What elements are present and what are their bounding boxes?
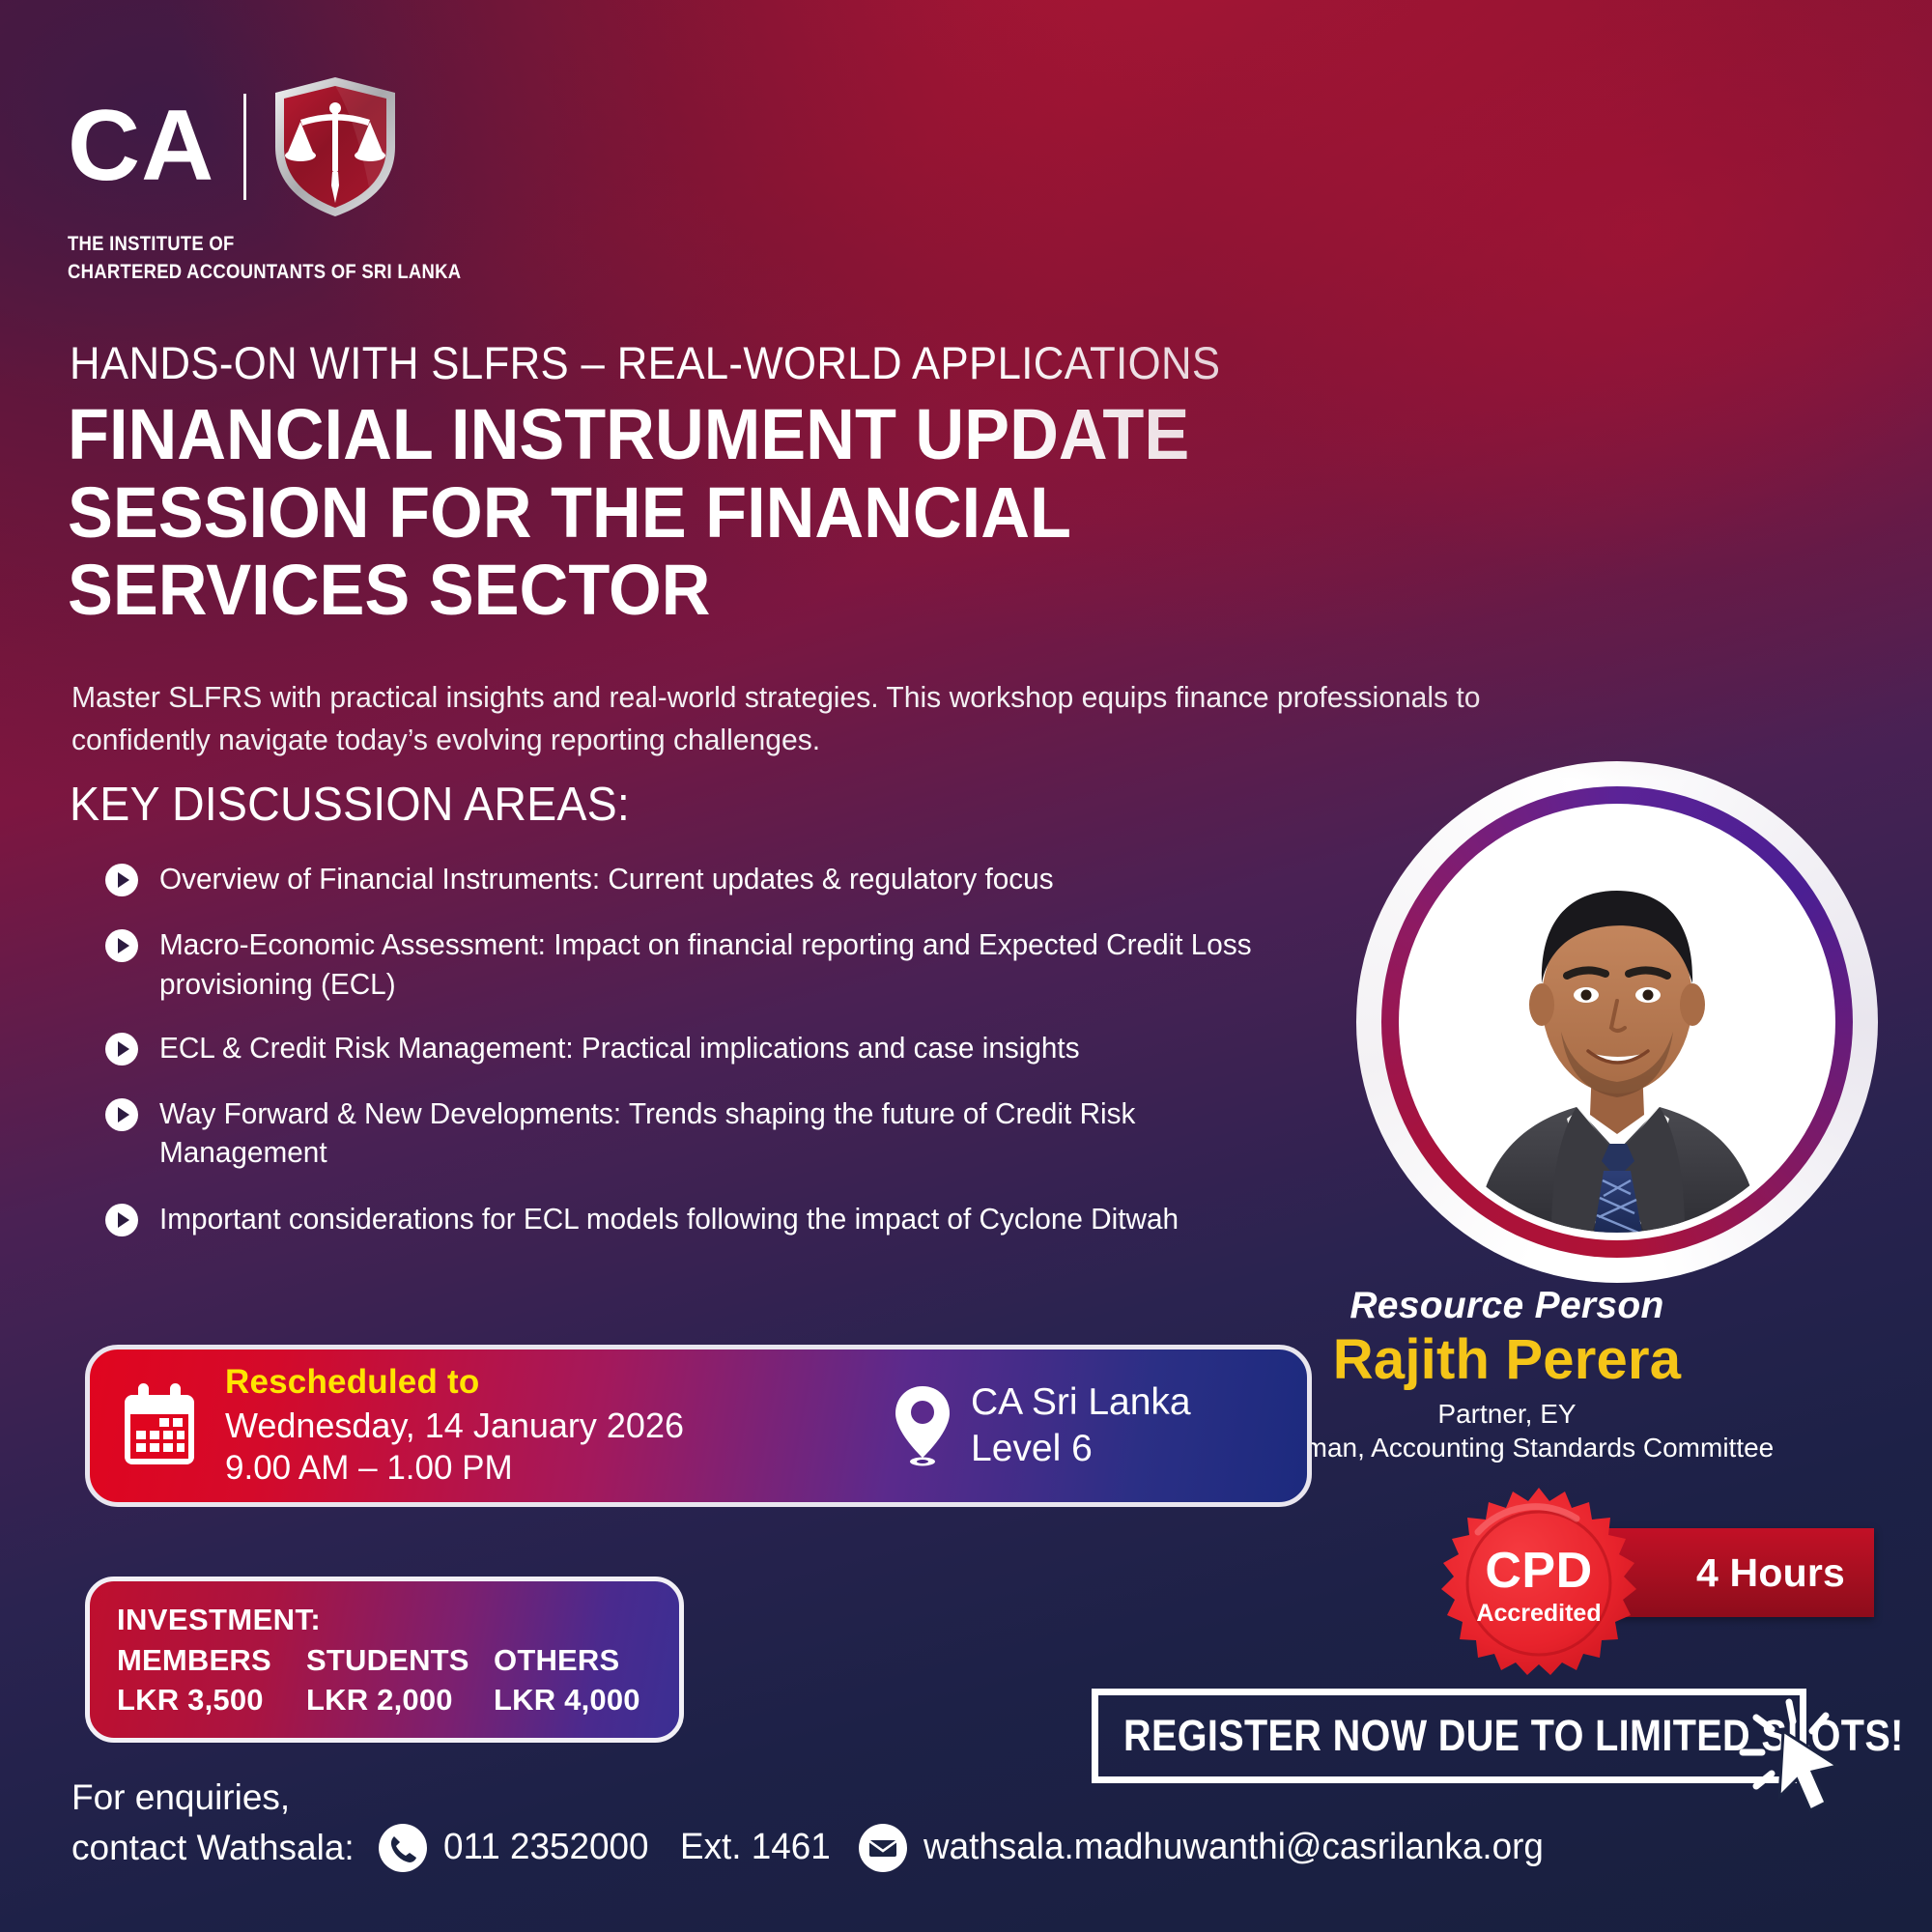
contact-phone[interactable]: 011 2352000 bbox=[443, 1827, 649, 1868]
cpd-badge-group: 4 Hours CPD Accredited bbox=[1432, 1486, 1895, 1689]
contact-email[interactable]: wathsala.madhuwanthi@casrilanka.org bbox=[923, 1827, 1544, 1868]
play-circle-icon bbox=[104, 1097, 139, 1132]
cpd-accredited-label: Accredited bbox=[1476, 1602, 1601, 1626]
reschedule-label: Rescheduled to bbox=[225, 1363, 684, 1403]
cpd-hours-label: 4 Hours bbox=[1696, 1550, 1845, 1596]
tier-label-students: STUDENTS bbox=[306, 1641, 494, 1681]
event-description: Master SLFRS with practical insights and… bbox=[71, 676, 1618, 761]
key-areas-list: Overview of Financial Instruments: Curre… bbox=[104, 860, 1302, 1265]
enquiries-label: For enquiries, bbox=[71, 1776, 1907, 1821]
list-item: Important considerations for ECL models … bbox=[104, 1200, 1302, 1238]
tier-label-others: OTHERS bbox=[494, 1641, 668, 1681]
logo-wordmark: CA bbox=[68, 100, 214, 193]
calendar-icon bbox=[117, 1381, 202, 1470]
list-item-label: Macro-Economic Assessment: Impact on fin… bbox=[159, 925, 1273, 1004]
logo-row: CA bbox=[68, 75, 526, 218]
list-item: Way Forward & New Developments: Trends s… bbox=[104, 1094, 1302, 1173]
list-item-label: Way Forward & New Developments: Trends s… bbox=[159, 1094, 1273, 1173]
list-item: ECL & Credit Risk Management: Practical … bbox=[104, 1029, 1302, 1067]
organization-logo: CA bbox=[68, 75, 526, 286]
list-item-label: Important considerations for ECL models … bbox=[159, 1200, 1179, 1238]
logo-divider bbox=[243, 94, 246, 200]
investment-title: INVESTMENT: bbox=[117, 1602, 679, 1637]
investment-label-row: MEMBERS STUDENTS OTHERS bbox=[117, 1641, 679, 1681]
play-circle-icon bbox=[104, 928, 139, 963]
resource-person-label: Resource Person bbox=[1082, 1285, 1932, 1327]
envelope-icon bbox=[858, 1823, 908, 1873]
tier-price-members: LKR 3,500 bbox=[117, 1681, 306, 1720]
shield-scales-icon bbox=[271, 75, 399, 218]
list-item-label: Overview of Financial Instruments: Curre… bbox=[159, 860, 1054, 898]
tier-price-others: LKR 4,000 bbox=[494, 1681, 668, 1720]
key-areas-heading: KEY DISCUSSION AREAS: bbox=[70, 778, 630, 832]
phone-icon bbox=[378, 1823, 428, 1873]
logo-subtext-line1: THE INSTITUTE OF bbox=[68, 230, 461, 258]
cpd-seal-text: CPD Accredited bbox=[1432, 1486, 1646, 1689]
list-item: Overview of Financial Instruments: Curre… bbox=[104, 860, 1302, 898]
speaker-portrait bbox=[1356, 761, 1878, 1283]
logo-subtext-line2: CHARTERED ACCOUNTANTS OF SRI LANKA bbox=[68, 258, 461, 286]
contact-extension: Ext. 1461 bbox=[680, 1827, 831, 1868]
investment-box: INVESTMENT: MEMBERS STUDENTS OTHERS LKR … bbox=[85, 1577, 684, 1743]
avatar bbox=[1406, 811, 1828, 1233]
play-circle-icon bbox=[104, 863, 139, 897]
investment-grid: MEMBERS STUDENTS OTHERS LKR 3,500 LKR 2,… bbox=[117, 1641, 679, 1720]
schedule-date-group: Rescheduled to Wednesday, 14 January 202… bbox=[90, 1363, 892, 1490]
venue-group: CA Sri Lanka Level 6 bbox=[892, 1379, 1191, 1471]
poster-canvas: CA bbox=[0, 0, 1932, 1932]
investment-price-row: LKR 3,500 LKR 2,000 LKR 4,000 bbox=[117, 1681, 679, 1720]
venue-line-1: CA Sri Lanka bbox=[971, 1379, 1191, 1426]
schedule-text: Rescheduled to Wednesday, 14 January 202… bbox=[225, 1363, 684, 1490]
list-item: Macro-Economic Assessment: Impact on fin… bbox=[104, 925, 1302, 1004]
register-button[interactable]: REGISTER NOW DUE TO LIMITED SLOTS! bbox=[1092, 1689, 1806, 1783]
cpd-main-label: CPD bbox=[1485, 1546, 1592, 1596]
play-circle-icon bbox=[104, 1032, 139, 1066]
event-time: 9.00 AM – 1.00 PM bbox=[225, 1448, 684, 1489]
contact-footer: For enquiries, contact Wathsala: 011 235… bbox=[71, 1776, 1907, 1873]
contact-person-label: contact Wathsala: bbox=[71, 1828, 355, 1868]
logo-subtext: THE INSTITUTE OF CHARTERED ACCOUNTANTS O… bbox=[68, 230, 461, 286]
contact-row: contact Wathsala: 011 2352000 Ext. 1461 … bbox=[71, 1823, 1907, 1873]
venue-line-2: Level 6 bbox=[971, 1426, 1191, 1472]
map-pin-icon bbox=[892, 1384, 953, 1467]
schedule-bar: Rescheduled to Wednesday, 14 January 202… bbox=[85, 1345, 1312, 1507]
page-title: FINANCIAL INSTRUMENT UPDATE SESSION FOR … bbox=[68, 396, 1407, 630]
event-date: Wednesday, 14 January 2026 bbox=[225, 1405, 684, 1446]
tier-label-members: MEMBERS bbox=[117, 1641, 306, 1681]
list-item-label: ECL & Credit Risk Management: Practical … bbox=[159, 1029, 1080, 1067]
event-kicker: HANDS-ON WITH SLFRS – REAL-WORLD APPLICA… bbox=[70, 336, 1220, 389]
tier-price-students: LKR 2,000 bbox=[306, 1681, 494, 1720]
play-circle-icon bbox=[104, 1203, 139, 1237]
venue-text: CA Sri Lanka Level 6 bbox=[971, 1379, 1191, 1471]
